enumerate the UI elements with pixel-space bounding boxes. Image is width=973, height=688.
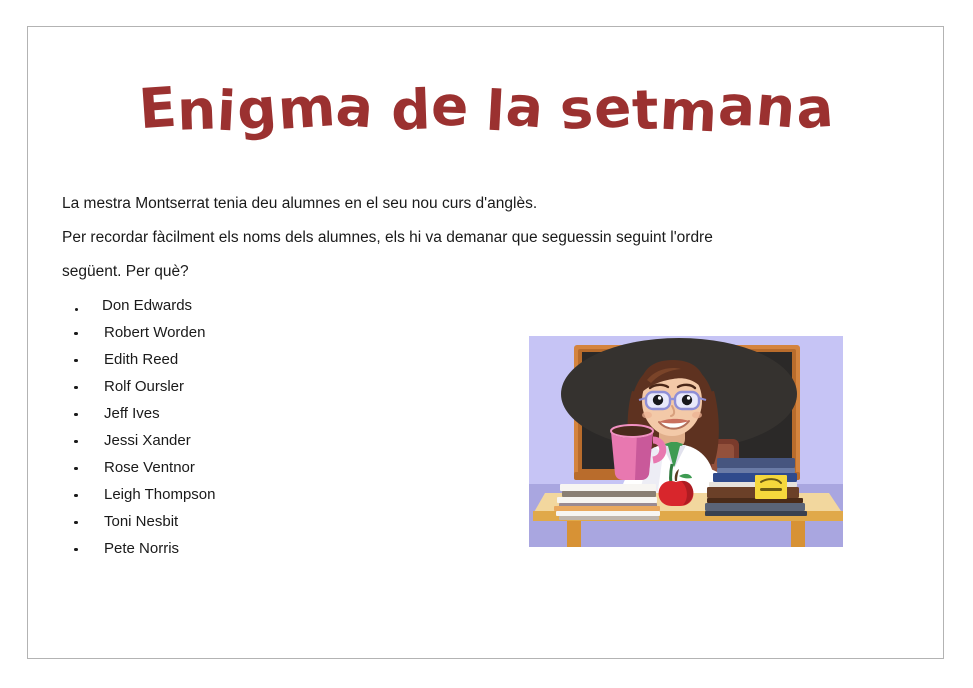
- bullet-icon: [74, 548, 78, 552]
- bullet-icon: [74, 494, 78, 498]
- student-name: Jeff Ives: [104, 405, 160, 422]
- student-name-list: Don Edwards Robert Worden Edith Reed Rol…: [62, 292, 462, 562]
- document-page: Enigmadelasetmana Enigma de la setmana L…: [0, 0, 973, 688]
- list-item: Rolf Oursler: [62, 373, 462, 400]
- bullet-icon: [74, 359, 78, 363]
- student-name: Edith Reed: [104, 351, 178, 368]
- bullet-icon: [74, 413, 78, 417]
- list-item: Pete Norris: [62, 535, 462, 562]
- bullet-icon: [74, 467, 78, 471]
- list-item: Edith Reed: [62, 346, 462, 373]
- list-item: Robert Worden: [62, 319, 462, 346]
- student-name: Don Edwards: [102, 297, 192, 314]
- student-name: Toni Nesbit: [104, 513, 178, 530]
- teacher-illustration-image: [529, 336, 843, 547]
- bullet-icon: [74, 521, 78, 525]
- intro-paragraph-2: Per recordar fàcilment els noms dels alu…: [62, 221, 922, 255]
- intro-paragraph-1: La mestra Montserrat tenia deu alumnes e…: [62, 187, 922, 221]
- list-item: Leigh Thompson: [62, 481, 462, 508]
- bullet-icon: [74, 440, 78, 444]
- student-name: Leigh Thompson: [104, 486, 215, 503]
- teacher-at-desk-graphic: [529, 336, 843, 547]
- page-title: Enigmadelasetmana: [0, 82, 973, 137]
- bullet-icon: [74, 332, 78, 336]
- student-name: Pete Norris: [104, 540, 179, 557]
- list-item: Rose Ventnor: [62, 454, 462, 481]
- student-name: Rolf Oursler: [104, 378, 184, 395]
- list-item: Jeff Ives: [62, 400, 462, 427]
- student-name: Jessi Xander: [104, 432, 191, 449]
- list-item: Toni Nesbit: [62, 508, 462, 535]
- list-item: Don Edwards: [62, 292, 462, 319]
- student-name: Robert Worden: [104, 324, 205, 341]
- intro-paragraph-3: següent. Per què?: [62, 255, 922, 289]
- list-item: Jessi Xander: [62, 427, 462, 454]
- bullet-icon: [74, 386, 78, 390]
- bullet-icon: [75, 308, 78, 311]
- student-name: Rose Ventnor: [104, 459, 195, 476]
